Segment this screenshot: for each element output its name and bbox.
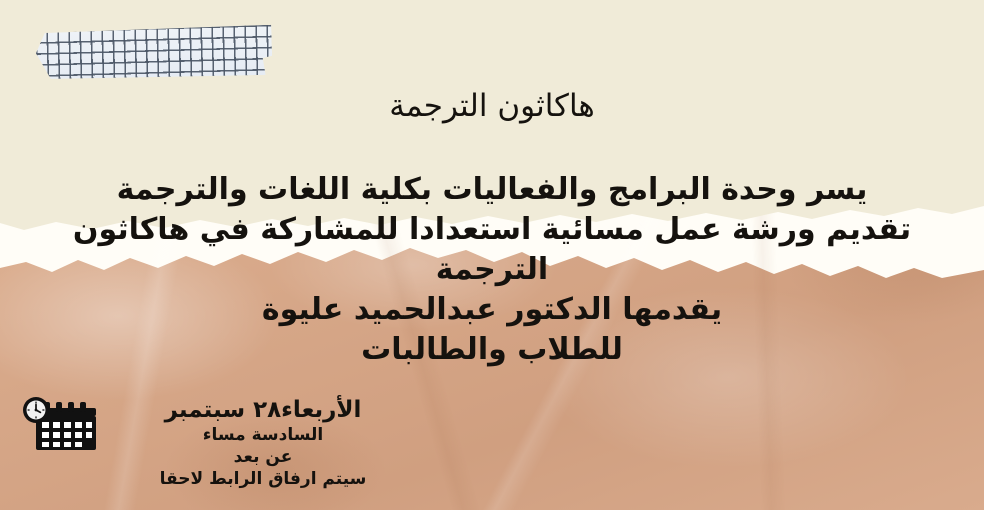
body-line-2: تقديم ورشة عمل مسائية استعدادا للمشاركة … — [0, 210, 984, 250]
event-date: الأربعاء٢٨ سبتمبر — [108, 396, 418, 424]
event-mode: عن بعد — [108, 446, 418, 468]
event-link-note: سيتم ارفاق الرابط لاحقا — [108, 468, 418, 490]
body-line-3: الترجمة — [0, 250, 984, 290]
body-line-5: للطلاب والطالبات — [0, 330, 984, 370]
poster-body: يسر وحدة البرامج والفعاليات بكلية اللغات… — [0, 170, 984, 370]
page-title: هاكاثون الترجمة — [0, 86, 984, 126]
event-details: الأربعاء٢٨ سبتمبر السادسة مساء عن بعد سي… — [108, 396, 418, 490]
poster-canvas: هاكاثون الترجمة يسر وحدة البرامج والفعال… — [0, 0, 984, 510]
body-line-4: يقدمها الدكتور عبدالحميد عليوة — [0, 290, 984, 330]
poster-text-layer: هاكاثون الترجمة يسر وحدة البرامج والفعال… — [0, 0, 984, 510]
event-time: السادسة مساء — [108, 424, 418, 446]
body-line-1: يسر وحدة البرامج والفعاليات بكلية اللغات… — [0, 170, 984, 210]
calendar-clock-icon — [14, 396, 106, 460]
